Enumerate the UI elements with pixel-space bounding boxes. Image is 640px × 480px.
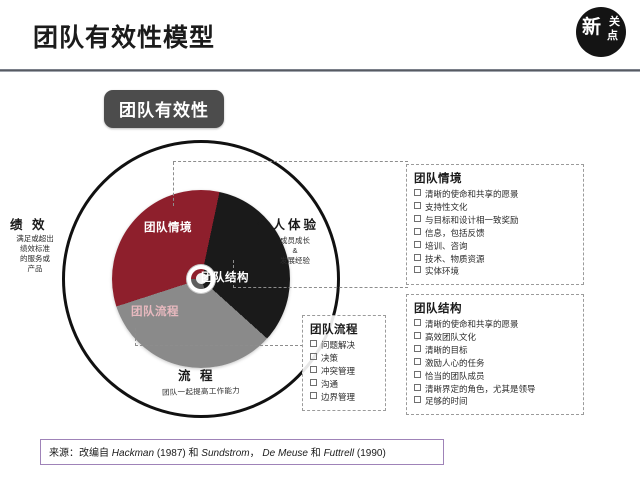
info-list-team-process: 问题解决决策冲突管理沟通边界管理 xyxy=(310,339,378,404)
source-year-1990: (1990) xyxy=(357,448,386,459)
square-bullet-icon xyxy=(414,254,421,261)
list-item: 问题解决 xyxy=(310,339,378,352)
square-bullet-icon xyxy=(414,358,421,365)
list-item-label: 清晰界定的角色，尤其是领导 xyxy=(425,384,536,394)
square-bullet-icon xyxy=(414,241,421,248)
square-bullet-icon xyxy=(310,379,317,386)
slide-header: 团队有效性模型 新 关 点 xyxy=(0,0,640,70)
source-note: 来源：改编自 Hackman (1987) 和 Sundstrom， De Me… xyxy=(40,439,444,465)
square-bullet-icon xyxy=(414,371,421,378)
ring-heading-performance: 绩 效 xyxy=(10,214,47,233)
source-year-1987: (1987) xyxy=(157,448,186,459)
connector-team-process-horizontal xyxy=(135,345,303,346)
brand-logo-char-top: 关 xyxy=(609,16,620,27)
list-item-label: 足够的时间 xyxy=(425,396,468,406)
ring-subtext-performance: 满足或超出 绩效标准 的服务或 产品 xyxy=(4,234,66,275)
source-ref-demeuse: De Meuse xyxy=(262,448,308,459)
list-item: 边界管理 xyxy=(310,391,378,404)
list-item: 高效团队文化 xyxy=(414,331,576,344)
source-prefix: 来源：改编自 xyxy=(49,448,109,459)
source-ref-futtrell: Futtrell xyxy=(324,448,355,459)
square-bullet-icon xyxy=(414,202,421,209)
square-bullet-icon xyxy=(414,215,421,222)
square-bullet-icon xyxy=(414,319,421,326)
list-item: 实体环境 xyxy=(414,265,576,278)
wedge-label-team-process: 团队流程 xyxy=(131,303,179,319)
info-box-team-process: 团队流程 问题解决决策冲突管理沟通边界管理 xyxy=(302,315,386,411)
ring-subtext-experience: 成员成长 & 发展经验 xyxy=(265,236,325,266)
source-ref-hackman: Hackman xyxy=(112,448,154,459)
list-item: 培训、咨询 xyxy=(414,240,576,253)
info-box-team-context: 团队情境 清晰的使命和共享的愿景支持性文化与目标和设计相一致奖励信息，包括反馈培… xyxy=(406,164,584,285)
list-item-label: 与目标和设计相一致奖励 xyxy=(425,215,519,225)
list-item: 与目标和设计相一致奖励 xyxy=(414,214,576,227)
list-item: 支持性文化 xyxy=(414,201,576,214)
wedge-label-team-structure: 团队结构 xyxy=(201,269,249,285)
list-item-label: 边界管理 xyxy=(321,392,355,402)
list-item-label: 清晰的目标 xyxy=(425,345,468,355)
ring-heading-experience: 个人体验 xyxy=(257,214,319,233)
list-item: 清晰的使命和共享的愿景 xyxy=(414,318,576,331)
square-bullet-icon xyxy=(414,228,421,235)
brand-logo: 新 关 点 xyxy=(576,7,626,57)
square-bullet-icon xyxy=(414,396,421,403)
square-bullet-icon xyxy=(414,384,421,391)
list-item: 冲突管理 xyxy=(310,365,378,378)
page-title: 团队有效性模型 xyxy=(33,18,215,54)
list-item-label: 问题解决 xyxy=(321,340,355,350)
square-bullet-icon xyxy=(310,340,317,347)
info-box-title: 团队流程 xyxy=(310,321,378,337)
list-item-label: 支持性文化 xyxy=(425,202,468,212)
list-item: 清晰界定的角色，尤其是领导 xyxy=(414,383,576,396)
list-item-label: 技术、物质资源 xyxy=(425,254,485,264)
list-item: 决策 xyxy=(310,352,378,365)
square-bullet-icon xyxy=(310,366,317,373)
connector-team-process-vertical xyxy=(135,328,136,346)
list-item-label: 沟通 xyxy=(321,379,338,389)
list-item: 信息，包括反馈 xyxy=(414,227,576,240)
connector-team-structure-horizontal xyxy=(233,287,408,288)
list-item: 技术、物质资源 xyxy=(414,253,576,266)
list-item-label: 激励人心的任务 xyxy=(425,358,485,368)
square-bullet-icon xyxy=(414,266,421,273)
info-box-title: 团队结构 xyxy=(414,300,576,316)
list-item: 足够的时间 xyxy=(414,395,576,408)
list-item: 恰当的团队成员 xyxy=(414,370,576,383)
source-conjunction-2: 和 xyxy=(311,448,321,459)
info-list-team-structure: 清晰的使命和共享的愿景高效团队文化清晰的目标激励人心的任务恰当的团队成员清晰界定… xyxy=(414,318,576,408)
header-divider xyxy=(0,69,640,72)
list-item-label: 清晰的使命和共享的愿景 xyxy=(425,189,519,199)
square-bullet-icon xyxy=(414,345,421,352)
ring-heading-process: 流 程 xyxy=(178,365,215,384)
square-bullet-icon xyxy=(414,332,421,339)
brand-logo-char-main: 新 xyxy=(582,18,601,37)
team-effectiveness-badge: 团队有效性 xyxy=(104,90,224,128)
list-item: 激励人心的任务 xyxy=(414,357,576,370)
square-bullet-icon xyxy=(310,392,317,399)
list-item-label: 恰当的团队成员 xyxy=(425,371,485,381)
list-item-label: 冲突管理 xyxy=(321,366,355,376)
list-item: 沟通 xyxy=(310,378,378,391)
list-item-label: 实体环境 xyxy=(425,266,459,276)
source-comma: ， xyxy=(250,448,260,459)
connector-team-context-vertical xyxy=(173,162,174,206)
source-ref-sundstrom: Sundstrom xyxy=(201,448,249,459)
square-bullet-icon xyxy=(414,189,421,196)
list-item-label: 清晰的使命和共享的愿景 xyxy=(425,319,519,329)
connector-team-context-horizontal xyxy=(173,161,408,162)
list-item: 清晰的目标 xyxy=(414,344,576,357)
list-item-label: 高效团队文化 xyxy=(425,332,476,342)
list-item: 清晰的使命和共享的愿景 xyxy=(414,188,576,201)
info-box-team-structure: 团队结构 清晰的使命和共享的愿景高效团队文化清晰的目标激励人心的任务恰当的团队成… xyxy=(406,294,584,415)
info-box-title: 团队情境 xyxy=(414,170,576,186)
square-bullet-icon xyxy=(310,353,317,360)
source-conjunction-1: 和 xyxy=(189,448,199,459)
wedge-label-team-context: 团队情境 xyxy=(144,219,192,235)
list-item-label: 培训、咨询 xyxy=(425,241,468,251)
slide-canvas: 团队有效性模型 新 关 点 团队有效性 团队情境 团队结构 团队流程 绩 效 满… xyxy=(0,0,640,480)
brand-logo-char-bottom: 点 xyxy=(607,30,618,41)
info-list-team-context: 清晰的使命和共享的愿景支持性文化与目标和设计相一致奖励信息，包括反馈培训、咨询技… xyxy=(414,188,576,278)
list-item-label: 决策 xyxy=(321,353,338,363)
list-item-label: 信息，包括反馈 xyxy=(425,228,485,238)
